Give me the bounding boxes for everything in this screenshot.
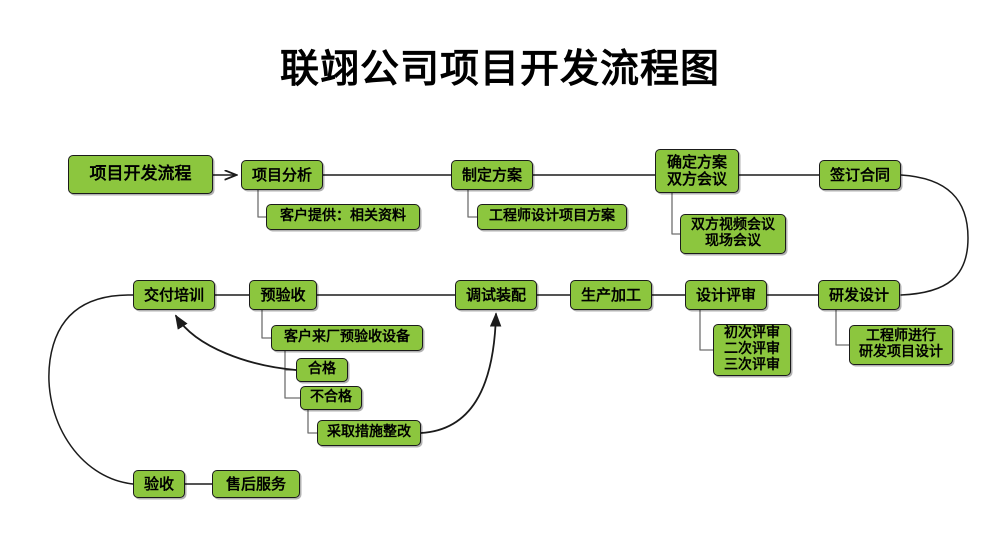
node-label: 工程师进行 研发项目设计 xyxy=(859,329,943,360)
node-sign-contract[interactable]: 签订合同 xyxy=(819,160,901,190)
edge-n10c-n10d xyxy=(308,410,317,433)
node-label: 项目开发流程 xyxy=(90,165,192,184)
node-label: 研发设计 xyxy=(829,287,889,304)
node-label: 设计评审 xyxy=(696,287,756,304)
node-customer-onsite-pre-acceptance[interactable]: 客户来厂预验收设备 xyxy=(271,325,423,351)
node-design-review[interactable]: 设计评审 xyxy=(685,280,767,310)
node-confirm-plan-bilateral-meeting[interactable]: 确定方案 双方会议 xyxy=(655,149,739,193)
node-review-rounds[interactable]: 初次评审 二次评审 三次评审 xyxy=(713,324,791,376)
edge-n10-n10a xyxy=(262,310,271,338)
node-label: 合格 xyxy=(308,362,336,378)
node-label: 生产加工 xyxy=(581,287,641,304)
node-unqualified[interactable]: 不合格 xyxy=(300,386,362,410)
flowchart-canvas: 联翊公司项目开发流程图 xyxy=(0,0,1000,541)
edge-n2-n2a xyxy=(258,190,266,217)
node-customer-provides-materials[interactable]: 客户提供：相关资料 xyxy=(266,204,420,230)
node-engineer-rnd-project-design[interactable]: 工程师进行 研发项目设计 xyxy=(849,325,953,365)
node-debug-assembly[interactable]: 调试装配 xyxy=(455,280,537,310)
node-acceptance[interactable]: 验收 xyxy=(133,470,185,498)
node-pre-acceptance[interactable]: 预验收 xyxy=(249,280,317,310)
node-project-development-process[interactable]: 项目开发流程 xyxy=(68,155,213,194)
node-label: 客户提供：相关资料 xyxy=(280,209,406,225)
node-label: 调试装配 xyxy=(466,287,526,304)
edge-n6-n6a xyxy=(836,310,849,345)
edge-n11-n12 xyxy=(49,295,133,484)
page-title: 联翊公司项目开发流程图 xyxy=(0,38,1000,94)
node-rnd-design[interactable]: 研发设计 xyxy=(818,280,900,310)
node-take-corrective-measures[interactable]: 采取措施整改 xyxy=(317,420,421,446)
edge-n5-n6 xyxy=(901,175,968,295)
node-label: 采取措施整改 xyxy=(327,425,411,441)
node-label: 售后服务 xyxy=(226,476,286,493)
node-label: 客户来厂预验收设备 xyxy=(284,330,410,346)
edge-n4-n4a xyxy=(672,193,680,234)
node-label: 确定方案 双方会议 xyxy=(667,154,727,188)
node-label: 不合格 xyxy=(310,390,352,406)
node-production-processing[interactable]: 生产加工 xyxy=(570,280,652,310)
node-label: 项目分析 xyxy=(252,167,312,184)
edge-n10d-n9 xyxy=(421,314,496,433)
edge-n7-n7a xyxy=(700,310,713,350)
node-label: 验收 xyxy=(144,476,174,493)
node-label: 预验收 xyxy=(260,287,305,304)
node-label: 交付培训 xyxy=(144,287,204,304)
node-label: 制定方案 xyxy=(462,167,522,184)
node-label: 双方视频会议 现场会议 xyxy=(691,218,775,249)
node-qualified[interactable]: 合格 xyxy=(296,358,348,382)
edge-n10-n10b xyxy=(285,351,296,370)
node-engineer-designs-plan[interactable]: 工程师设计项目方案 xyxy=(477,204,627,230)
node-label: 初次评审 二次评审 三次评审 xyxy=(724,326,780,373)
edge-n3-n3a xyxy=(468,190,477,217)
node-formulate-plan[interactable]: 制定方案 xyxy=(451,160,533,190)
node-project-analysis[interactable]: 项目分析 xyxy=(241,160,323,190)
node-label: 工程师设计项目方案 xyxy=(489,209,615,225)
node-label: 签订合同 xyxy=(830,167,890,184)
node-delivery-training[interactable]: 交付培训 xyxy=(133,280,215,310)
node-video-and-onsite-meeting[interactable]: 双方视频会议 现场会议 xyxy=(680,214,786,254)
node-after-sales-service[interactable]: 售后服务 xyxy=(212,470,300,498)
